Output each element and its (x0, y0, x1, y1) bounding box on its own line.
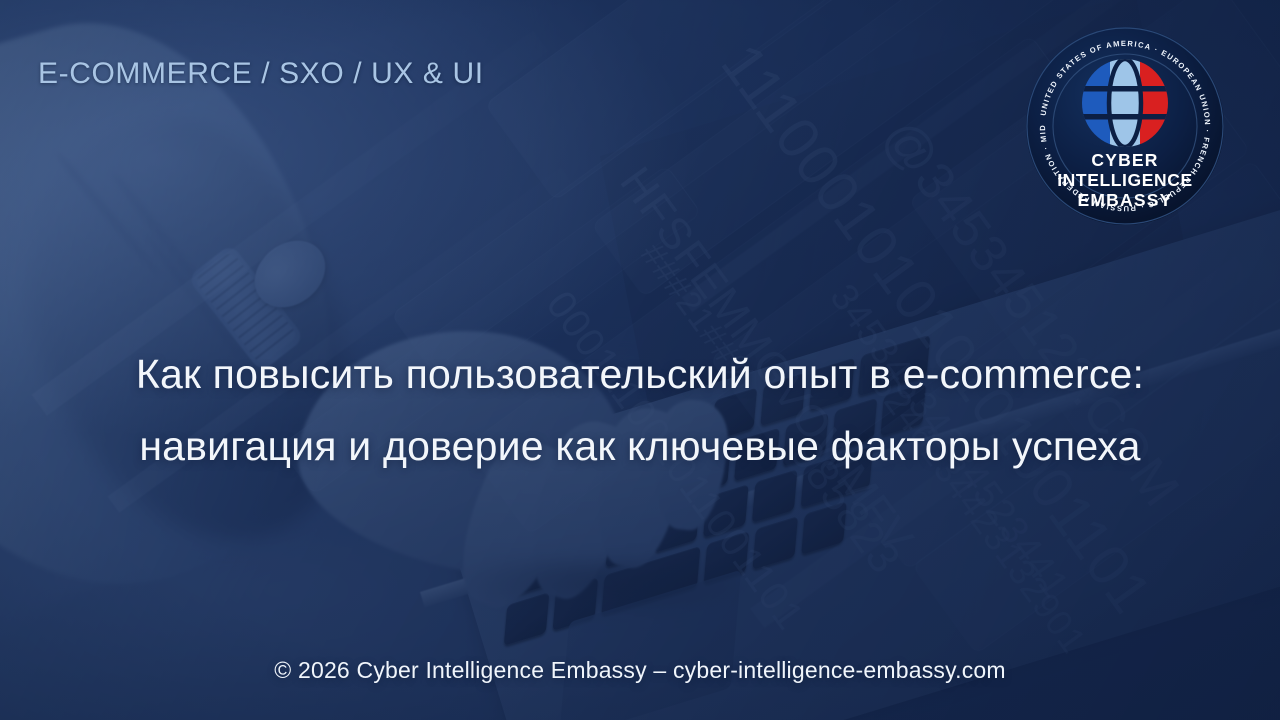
logo-name-line-2: INTELLIGENCE (1057, 170, 1193, 190)
logo-name-line-1: CYBER (1091, 150, 1158, 170)
logo-name-line-3: EMBASSY (1078, 190, 1173, 210)
title-line-1: Как повысить пользовательский опыт в e-c… (90, 338, 1190, 410)
title-line-2: навигация и доверие как ключевые факторы… (90, 410, 1190, 482)
cyber-intelligence-embassy-logo[interactable]: UNITED STATES OF AMERICA · EUROPEAN UNIO… (1024, 25, 1226, 227)
article-banner: 111000101010101001101 HFSFEMMGVOWMFV @34… (0, 0, 1280, 720)
copyright-footer: © 2026 Cyber Intelligence Embassy – cybe… (0, 657, 1280, 684)
category-kicker: E-COMMERCE / SXO / UX & UI (38, 57, 484, 91)
page-title: Как повысить пользовательский опыт в e-c… (0, 338, 1280, 482)
